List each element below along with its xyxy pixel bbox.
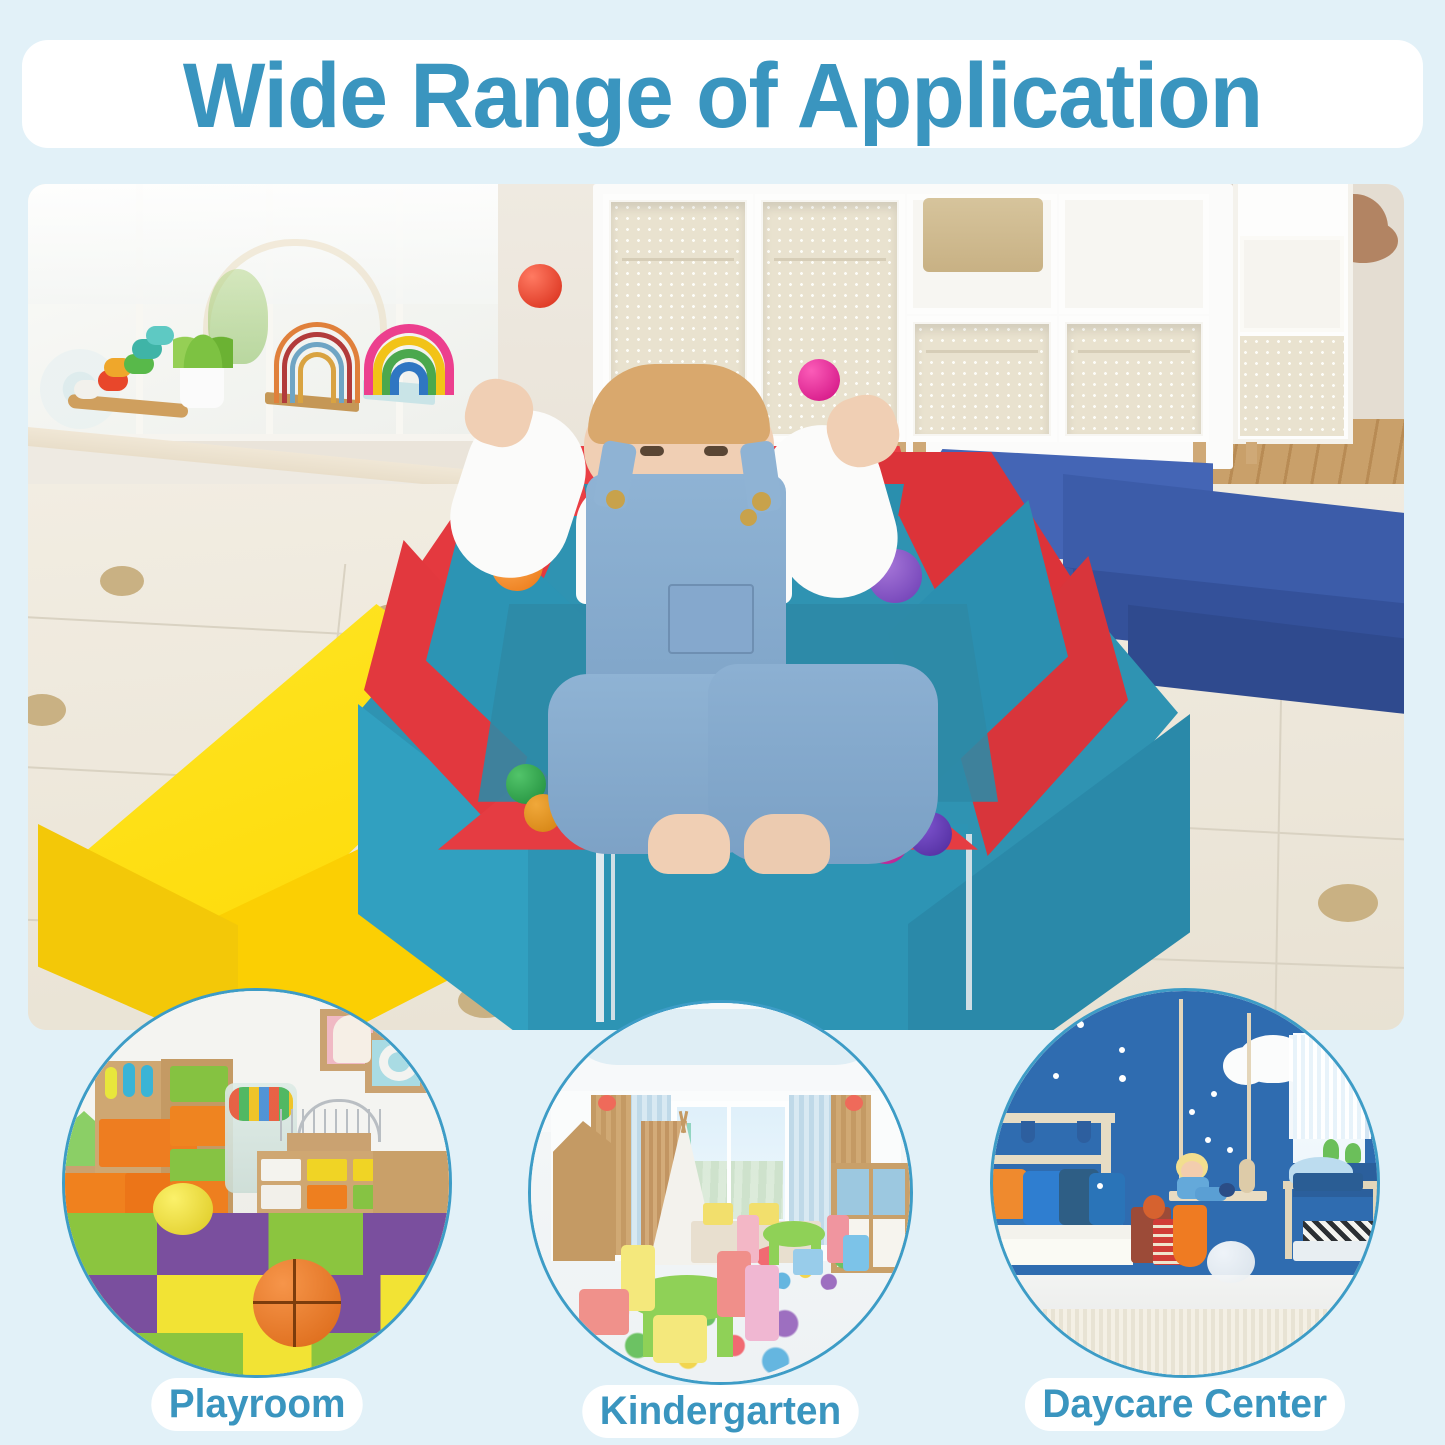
daycare-woven-rug	[1015, 1309, 1345, 1378]
playroom-basketball-line-2	[293, 1259, 296, 1347]
daycare-star-5	[1211, 1091, 1217, 1097]
cabinet-bin	[1240, 336, 1344, 436]
child-foot-right	[744, 814, 830, 874]
daycare-star-4	[1119, 1075, 1126, 1082]
daycare-pillow-star-dot	[1097, 1183, 1103, 1189]
daycare-bed-garland	[990, 1239, 1133, 1265]
child-eye-right	[704, 446, 728, 456]
hero-product-photo	[28, 184, 1404, 1030]
kindergarten-stool-coral	[579, 1289, 629, 1335]
caption-playroom-wrap: Playroom	[62, 1378, 452, 1431]
daycare-bed-frame-top	[990, 1113, 1115, 1123]
kindergarten-cushion-1	[703, 1203, 733, 1225]
child-foot-left	[648, 814, 730, 874]
velcro-strip-right	[966, 834, 972, 1010]
woven-basket	[923, 198, 1043, 272]
daycare-heart-hanger-2	[1077, 1121, 1091, 1143]
daycare-orange-blanket	[1173, 1205, 1207, 1267]
kindergarten-speaker-left	[598, 1095, 616, 1111]
page-title: Wide Range of Application	[36, 44, 1409, 149]
daycare-swing-rope-left	[1179, 999, 1183, 1179]
storage-bin-3	[915, 324, 1049, 434]
overall-pocket	[668, 584, 754, 654]
kindergarten-chair-blue	[843, 1235, 869, 1271]
daycare-lower-basket	[1293, 1241, 1375, 1261]
playroom-bowling-pin-1	[105, 1067, 117, 1099]
ball-red-floor	[518, 264, 562, 308]
shelf-cell-5	[1059, 194, 1209, 314]
daycare-sheer-curtain	[1289, 1035, 1371, 1139]
playroom-bin-orange-4	[170, 1106, 228, 1146]
kindergarten-stool-yellow	[653, 1315, 707, 1363]
playroom-bowling-pin-2	[123, 1063, 135, 1097]
daycare-heart-hanger-1	[1021, 1121, 1035, 1143]
daycare-star-2	[1119, 1047, 1125, 1053]
playroom-bin-green-1	[170, 1066, 228, 1102]
shelf-leg-4	[1193, 442, 1206, 466]
daycare-checker-basket	[1303, 1221, 1375, 1241]
bear-print-7	[1318, 884, 1378, 922]
ball-pink-floating	[798, 359, 840, 401]
child-hair	[588, 364, 770, 444]
daycare-window-plant-2	[1345, 1143, 1361, 1163]
playroom-bunny-toy	[333, 1015, 371, 1063]
playroom-ring-toy	[379, 1043, 419, 1081]
playroom-tennis-ball	[153, 1183, 213, 1235]
daycare-cloud-decor-2	[1223, 1047, 1269, 1085]
scene-circle-daycare	[990, 988, 1380, 1378]
cabinet-leg	[1246, 442, 1257, 464]
daycare-pillow-star	[1089, 1173, 1125, 1225]
storage-bin-4	[1067, 324, 1201, 434]
kindergarten-cubby-white-2	[873, 1219, 905, 1267]
daycare-clear-ball	[1207, 1241, 1255, 1283]
daycare-doll-shoe	[1219, 1183, 1235, 1197]
daycare-folded-blanket	[1293, 1173, 1363, 1191]
overall-button-3	[740, 509, 757, 526]
overall-button-right	[752, 492, 771, 511]
overall-button-left	[606, 490, 625, 509]
scene-circle-kindergarten	[528, 1000, 913, 1385]
abacus-arc-yellow	[298, 352, 336, 403]
playroom-bead-maze-base	[287, 1133, 371, 1153]
kindergarten-ceiling-dome	[561, 1009, 891, 1065]
child-eye-left	[640, 446, 664, 456]
playroom-foam-mat-row4	[62, 1333, 452, 1378]
stacking-ring-cyan	[146, 326, 174, 345]
potted-plant-leaves	[173, 316, 233, 368]
playroom-basketball-line	[253, 1301, 341, 1304]
cabinet-drawer-1	[1240, 236, 1344, 332]
daycare-teddy	[1143, 1195, 1165, 1219]
velcro-strip-left-2	[611, 844, 615, 1020]
caption-daycare: Daycare Center	[1025, 1378, 1345, 1431]
daycare-swing-knot	[1239, 1159, 1255, 1193]
kindergarten-cubby-blue-1	[837, 1169, 869, 1215]
caption-daycare-wrap: Daycare Center	[990, 1378, 1380, 1431]
kindergarten-stool-blue	[793, 1249, 823, 1275]
caption-kindergarten: Kindergarten	[582, 1385, 858, 1438]
playroom-bin-white-2	[261, 1185, 301, 1209]
kindergarten-chair-pink	[745, 1265, 779, 1341]
stacking-ring-white	[74, 380, 100, 399]
daycare-side-table-leg1	[1285, 1187, 1292, 1259]
playroom-foam-mat-row1	[62, 1213, 452, 1275]
daycare-bed-frame-rail	[990, 1155, 1105, 1164]
playroom-bin-green-2	[170, 1149, 228, 1183]
rainbow-toy-blue	[390, 362, 428, 395]
velcro-strip-left	[596, 842, 604, 1022]
caption-kindergarten-wrap: Kindergarten	[528, 1385, 913, 1438]
plant-pot	[180, 364, 224, 408]
daycare-star-8	[1227, 1147, 1233, 1153]
daycare-star-1	[1077, 1021, 1084, 1028]
kindergarten-cubby-blue-2	[873, 1169, 905, 1215]
caption-playroom: Playroom	[151, 1378, 363, 1431]
daycare-pillow-orange	[990, 1169, 1027, 1219]
kindergarten-table-back-leg1	[769, 1237, 779, 1265]
playroom-bin-white-1	[261, 1159, 301, 1181]
playroom-bin-orange-6	[307, 1185, 347, 1209]
daycare-star-3	[1053, 1073, 1059, 1079]
kindergarten-speaker-right	[845, 1095, 863, 1111]
daycare-star-7	[1205, 1137, 1211, 1143]
playroom-bowling-pin-3	[141, 1065, 153, 1097]
bear-print-1	[100, 566, 144, 596]
daycare-swing-rope-right	[1247, 1013, 1251, 1183]
scene-circle-playroom	[62, 988, 452, 1378]
daycare-star-6	[1189, 1109, 1195, 1115]
playroom-bin-yellow-1	[307, 1159, 347, 1181]
